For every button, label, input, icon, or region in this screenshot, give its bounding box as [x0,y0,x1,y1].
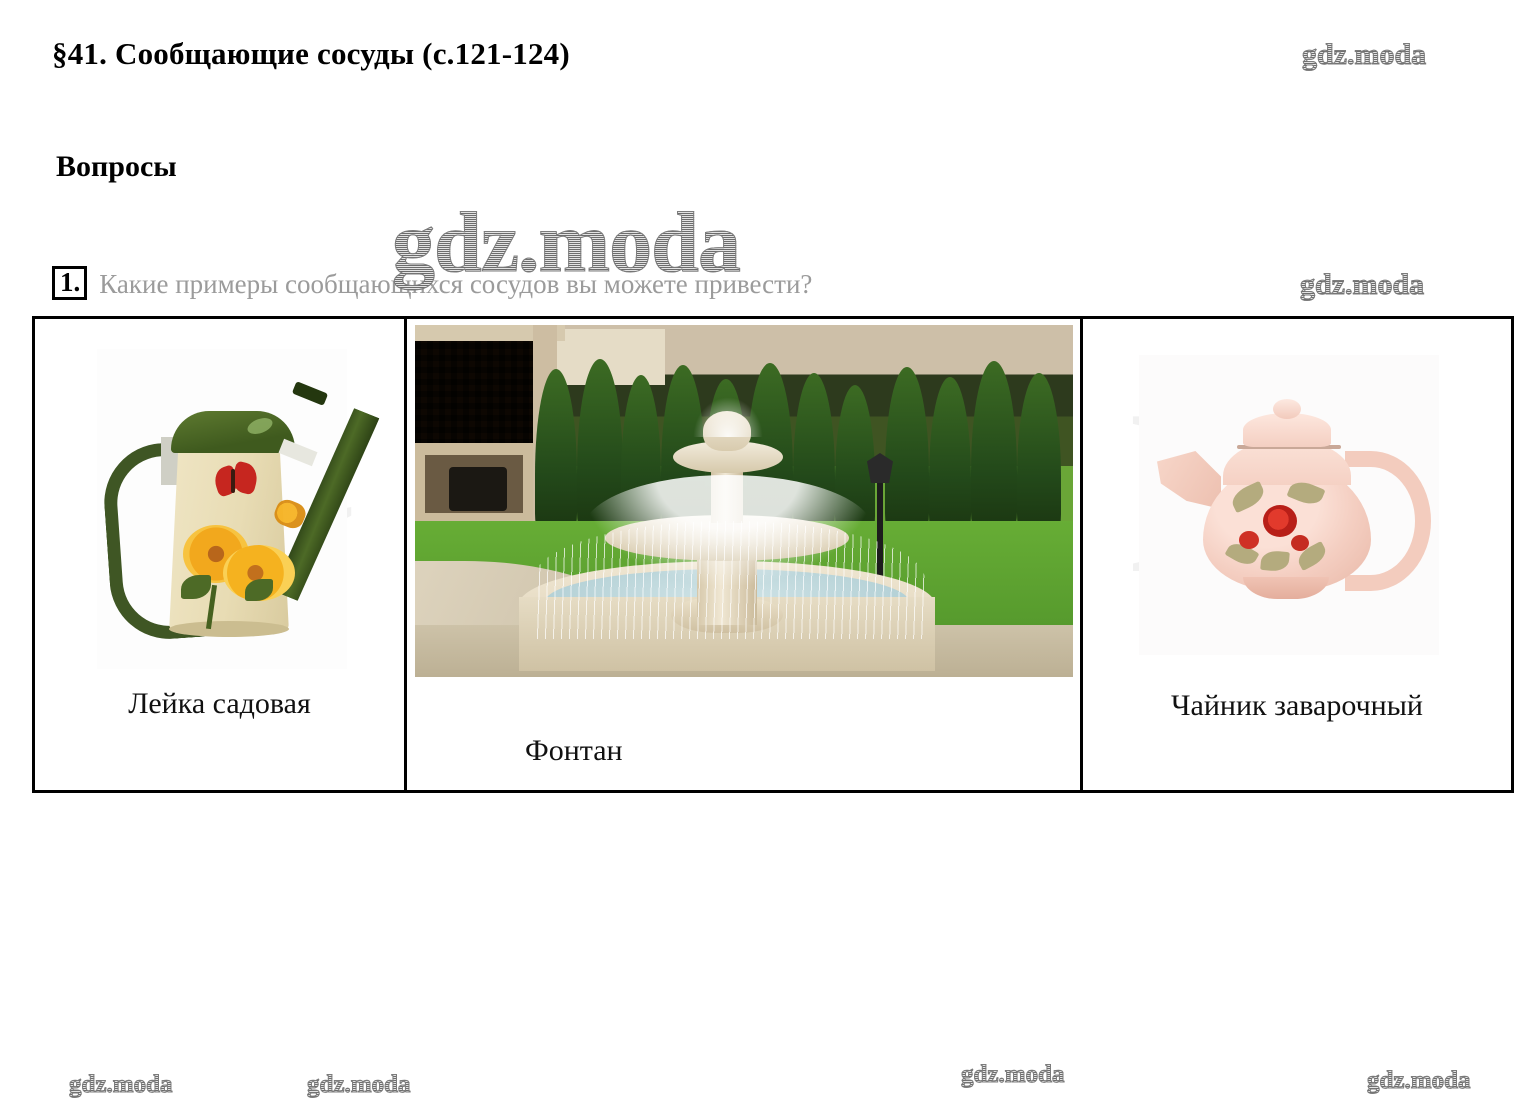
question-row: 1. Какие примеры сообщающихся сосудов вы… [52,266,812,300]
rose-decal [1263,505,1297,537]
watermark-top-right: gdz.moda [1302,38,1426,72]
watermark-right-second: gdz.moda [1300,268,1424,302]
alcove-contents [449,467,507,511]
questions-heading: Вопросы [56,150,177,184]
table-cell-watering-can: Лейка садовая gdz.moda gdz.moda [35,319,407,790]
teapot-photo [1139,355,1439,655]
table-cell-teapot: Чайник заварочный gdz.moda [1083,319,1511,790]
question-number-box: 1. [52,266,87,300]
teapot-spout [1157,451,1221,509]
watering-can-lid [171,411,295,453]
water-spray-top [693,397,763,437]
question-text: Какие примеры сообщающихся сосудов вы мо… [99,266,812,300]
caption-watering-can: Лейка садовая [35,687,404,721]
vessels-table: Лейка садовая gdz.moda gdz.moda [32,316,1514,793]
watering-can-spout-band [279,439,318,466]
teapot-foot [1243,577,1329,599]
water-veil [533,521,925,639]
caption-teapot: Чайник заварочный [1083,689,1511,723]
butterfly-body [231,469,235,493]
rose-bud-decal [1239,531,1259,549]
watering-can-base [169,621,289,637]
watermark-cell1-right: gdz.moda [307,1071,410,1099]
page-title: §41. Сообщающие сосуды (с.121-124) [52,36,570,72]
watermark-cell2-right: gdz.moda [1367,1067,1470,1095]
caption-fountain: Фонтан [525,734,623,768]
watermark-cell2-left: gdz.moda [961,1061,1064,1089]
watering-can-photo [97,349,347,669]
table-cell-fountain: Фонтан gdz.moda gdz.moda [407,319,1083,790]
garden-fountain-photo [415,325,1073,677]
teapot-lid-knob [1273,399,1301,419]
rose-bud-decal [1291,535,1309,551]
watering-can-spout-tip [292,381,328,406]
lattice-screen [415,325,535,445]
watermark-cell1-left: gdz.moda [69,1071,172,1099]
